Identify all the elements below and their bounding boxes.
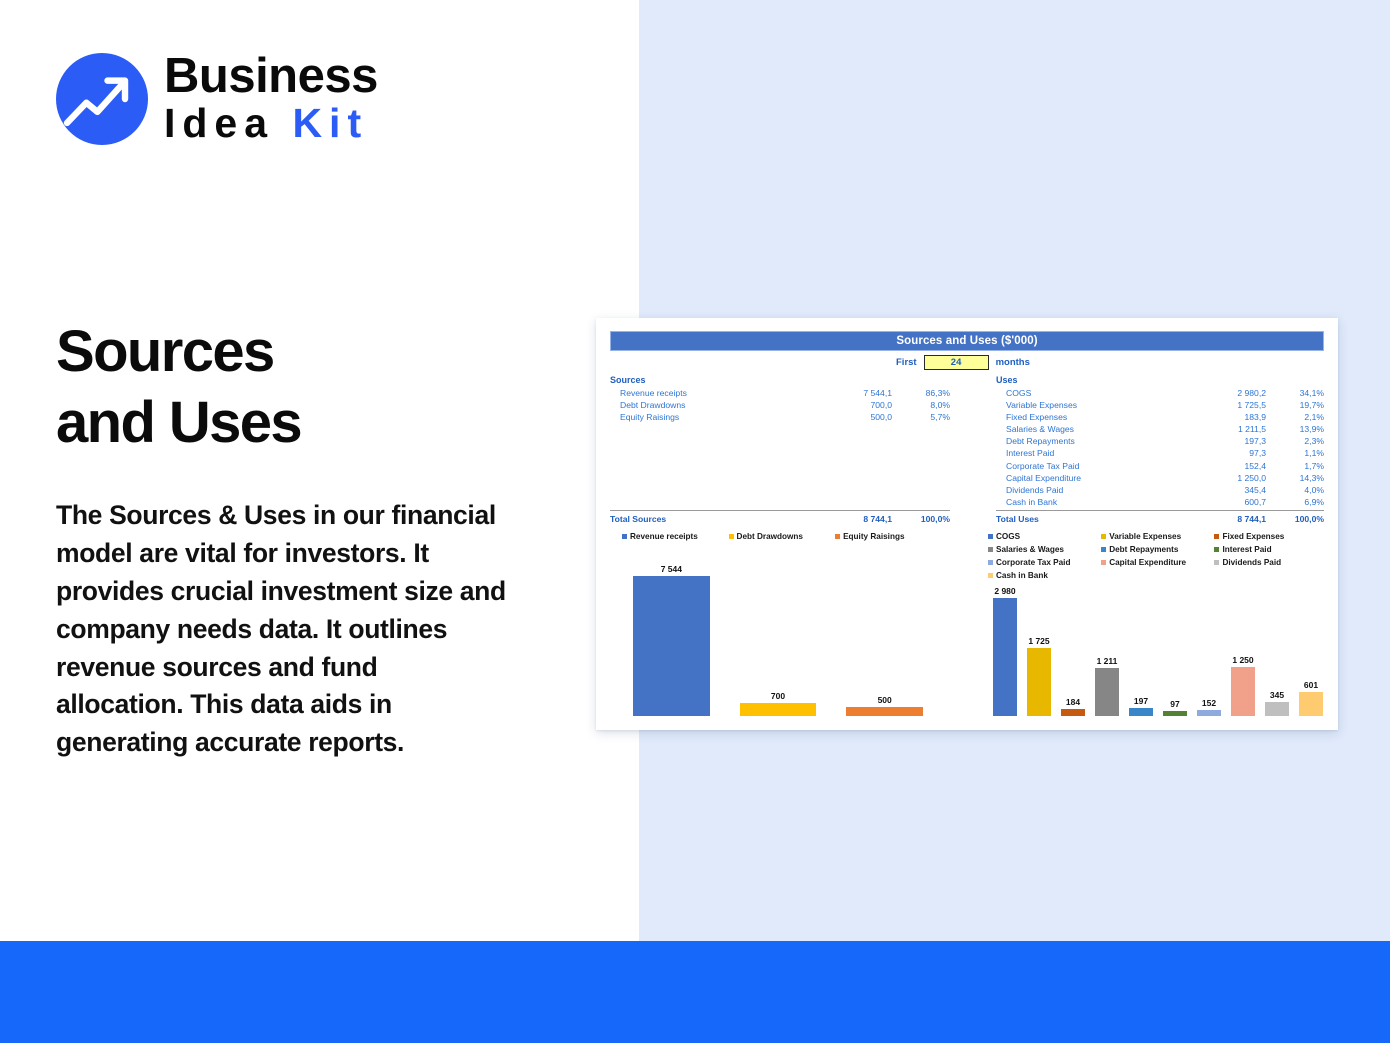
- bar: [1095, 668, 1118, 716]
- period-suffix-label: months: [996, 357, 1030, 368]
- bar-value-label: 184: [1066, 697, 1080, 707]
- row-percent: 1,7%: [1266, 460, 1324, 472]
- legend-item: Revenue receipts: [622, 530, 729, 543]
- row-value: 7 544,1: [820, 387, 892, 399]
- brand-wordmark: Business Idea Kit: [164, 52, 378, 145]
- legend-label: Equity Raisings: [843, 530, 904, 543]
- legend-label: Revenue receipts: [630, 530, 698, 543]
- total-value: 8 744,1: [820, 513, 892, 525]
- table-row: Dividends Paid 345,4 4,0%: [996, 484, 1324, 496]
- legend-label: Debt Drawdowns: [737, 530, 803, 543]
- uses-table-header: Uses: [996, 375, 1324, 385]
- bar: [1163, 711, 1186, 716]
- row-label: Revenue receipts: [610, 387, 820, 399]
- row-value: 152,4: [1194, 460, 1266, 472]
- legend-swatch-icon: [1101, 547, 1106, 552]
- row-value: 97,3: [1194, 447, 1266, 459]
- legend-swatch-icon: [835, 534, 840, 539]
- table-row: Equity Raisings 500,0 5,7%: [610, 411, 950, 423]
- row-percent: 86,3%: [892, 387, 950, 399]
- row-percent: 8,0%: [892, 399, 950, 411]
- row-value: 700,0: [820, 399, 892, 411]
- bar-group: 2 980: [988, 556, 1022, 716]
- bar-value-label: 1 211: [1097, 656, 1118, 666]
- bar-value-label: 601: [1304, 680, 1318, 690]
- row-value: 500,0: [820, 411, 892, 423]
- uses-bar-chart: 2 9801 7251841 211197971521 250345601: [988, 556, 1328, 716]
- bar-group: 700: [725, 556, 832, 716]
- legend-item: Fixed Expenses: [1214, 530, 1327, 543]
- row-label: Capital Expenditure: [996, 472, 1194, 484]
- row-value: 197,3: [1194, 435, 1266, 447]
- legend-swatch-icon: [988, 547, 993, 552]
- page-description: The Sources & Uses in our financial mode…: [56, 497, 508, 762]
- row-percent: 5,7%: [892, 411, 950, 423]
- bar: [1197, 710, 1220, 716]
- total-percent: 100,0%: [1266, 513, 1324, 525]
- bar-value-label: 500: [878, 695, 892, 705]
- bar-group: 1 725: [1022, 556, 1056, 716]
- legend-swatch-icon: [622, 534, 627, 539]
- brand-logo: Business Idea Kit: [56, 52, 378, 145]
- bar-value-label: 1 725: [1028, 636, 1049, 646]
- legend-item: COGS: [988, 530, 1101, 543]
- brand-line-business: Business: [164, 52, 378, 100]
- bar: [1265, 702, 1288, 716]
- row-value: 1 211,5: [1194, 423, 1266, 435]
- bar-value-label: 345: [1270, 690, 1284, 700]
- row-value: 345,4: [1194, 484, 1266, 496]
- table-row: Corporate Tax Paid 152,4 1,7%: [996, 460, 1324, 472]
- row-label: Dividends Paid: [996, 484, 1194, 496]
- table-empty-space: [610, 423, 950, 508]
- table-row: Cash in Bank 600,7 6,9%: [996, 496, 1324, 508]
- sources-total-row: Total Sources 8 744,1 100,0%: [610, 510, 950, 525]
- spreadsheet-title-bar: Sources and Uses ($'000): [610, 331, 1324, 351]
- row-value: 1 250,0: [1194, 472, 1266, 484]
- legend-swatch-icon: [1101, 534, 1106, 539]
- brand-word-kit: Kit: [292, 100, 368, 146]
- uses-total-row: Total Uses 8 744,1 100,0%: [996, 510, 1324, 525]
- total-label: Total Sources: [610, 513, 820, 525]
- row-label: Corporate Tax Paid: [996, 460, 1194, 472]
- row-percent: 2,1%: [1266, 411, 1324, 423]
- row-label: Fixed Expenses: [996, 411, 1194, 423]
- brand-word-idea: Idea: [164, 100, 292, 146]
- bar-group: 500: [831, 556, 938, 716]
- total-label: Total Uses: [996, 513, 1194, 525]
- page-title: Sources and Uses: [56, 317, 301, 459]
- legend-swatch-icon: [729, 534, 734, 539]
- legend-item: Debt Repayments: [1101, 543, 1214, 556]
- bar-value-label: 152: [1202, 698, 1216, 708]
- table-row: COGS 2 980,2 34,1%: [996, 387, 1324, 399]
- bar: [1129, 708, 1152, 716]
- period-months-input[interactable]: 24: [924, 355, 989, 370]
- table-row: Debt Drawdowns 700,0 8,0%: [610, 399, 950, 411]
- row-value: 600,7: [1194, 496, 1266, 508]
- row-percent: 19,7%: [1266, 399, 1324, 411]
- row-label: Cash in Bank: [996, 496, 1194, 508]
- sources-table-header: Sources: [610, 375, 950, 385]
- bar: [1299, 692, 1322, 716]
- brand-line-idea-kit: Idea Kit: [164, 102, 378, 145]
- row-label: Salaries & Wages: [996, 423, 1194, 435]
- uses-table: Uses COGS 2 980,2 34,1% Variable Expense…: [996, 375, 1324, 525]
- bar-value-label: 1 250: [1232, 655, 1253, 665]
- table-row: Debt Repayments 197,3 2,3%: [996, 435, 1324, 447]
- row-label: Debt Drawdowns: [610, 399, 820, 411]
- bar-value-label: 700: [771, 691, 785, 701]
- sources-table: Sources Revenue receipts 7 544,1 86,3% D…: [610, 375, 950, 525]
- row-label: Variable Expenses: [996, 399, 1194, 411]
- row-percent: 1,1%: [1266, 447, 1324, 459]
- legend-item: Variable Expenses: [1101, 530, 1214, 543]
- bar-group: 97: [1158, 556, 1192, 716]
- legend-label: Variable Expenses: [1109, 530, 1181, 543]
- legend-swatch-icon: [988, 534, 993, 539]
- bottom-accent-band: [0, 941, 1390, 1043]
- row-value: 1 725,5: [1194, 399, 1266, 411]
- row-value: 2 980,2: [1194, 387, 1266, 399]
- legend-item: Equity Raisings: [835, 530, 942, 543]
- row-percent: 6,9%: [1266, 496, 1324, 508]
- bar-value-label: 7 544: [661, 564, 682, 574]
- legend-item: Interest Paid: [1214, 543, 1327, 556]
- table-row: Interest Paid 97,3 1,1%: [996, 447, 1324, 459]
- sources-bar-chart: 7 544700500: [618, 556, 938, 716]
- bar-group: 197: [1124, 556, 1158, 716]
- legend-item: Debt Drawdowns: [729, 530, 836, 543]
- table-row: Variable Expenses 1 725,5 19,7%: [996, 399, 1324, 411]
- table-row: Capital Expenditure 1 250,0 14,3%: [996, 472, 1324, 484]
- rising-arrow-circle-icon: [56, 53, 148, 145]
- bar-group: 1 211: [1090, 556, 1124, 716]
- bar: [1061, 709, 1084, 716]
- bar: [740, 703, 817, 716]
- bar-group: 7 544: [618, 556, 725, 716]
- bar: [633, 576, 710, 716]
- row-percent: 13,9%: [1266, 423, 1324, 435]
- legend-label: Fixed Expenses: [1222, 530, 1284, 543]
- bar-group: 1 250: [1226, 556, 1260, 716]
- bar-value-label: 197: [1134, 696, 1148, 706]
- row-label: Equity Raisings: [610, 411, 820, 423]
- row-percent: 4,0%: [1266, 484, 1324, 496]
- row-value: 183,9: [1194, 411, 1266, 423]
- row-label: COGS: [996, 387, 1194, 399]
- spreadsheet-screenshot-card: Sources and Uses ($'000) First 24 months…: [596, 318, 1338, 730]
- legend-label: Interest Paid: [1222, 543, 1271, 556]
- bar-value-label: 2 980: [994, 586, 1015, 596]
- bar-value-label: 97: [1170, 699, 1179, 709]
- bar-group: 601: [1294, 556, 1328, 716]
- bar: [846, 707, 923, 716]
- legend-label: Salaries & Wages: [996, 543, 1064, 556]
- row-percent: 2,3%: [1266, 435, 1324, 447]
- legend-swatch-icon: [1214, 547, 1219, 552]
- table-row: Fixed Expenses 183,9 2,1%: [996, 411, 1324, 423]
- row-percent: 34,1%: [1266, 387, 1324, 399]
- period-selector-row: First 24 months: [896, 355, 1030, 370]
- legend-item: Salaries & Wages: [988, 543, 1101, 556]
- table-row: Salaries & Wages 1 211,5 13,9%: [996, 423, 1324, 435]
- bar: [1231, 667, 1254, 716]
- sources-chart-legend: Revenue receiptsDebt DrawdownsEquity Rai…: [622, 530, 942, 543]
- bar-group: 184: [1056, 556, 1090, 716]
- slide-canvas: Business Idea Kit Sources and Uses The S…: [0, 0, 1390, 1043]
- legend-swatch-icon: [1214, 534, 1219, 539]
- total-value: 8 744,1: [1194, 513, 1266, 525]
- bar-group: 345: [1260, 556, 1294, 716]
- table-row: Revenue receipts 7 544,1 86,3%: [610, 387, 950, 399]
- total-percent: 100,0%: [892, 513, 950, 525]
- period-prefix-label: First: [896, 357, 917, 368]
- row-label: Interest Paid: [996, 447, 1194, 459]
- bar-group: 152: [1192, 556, 1226, 716]
- row-percent: 14,3%: [1266, 472, 1324, 484]
- row-label: Debt Repayments: [996, 435, 1194, 447]
- bar: [1027, 648, 1050, 716]
- legend-label: COGS: [996, 530, 1020, 543]
- legend-label: Debt Repayments: [1109, 543, 1178, 556]
- bar: [993, 598, 1016, 716]
